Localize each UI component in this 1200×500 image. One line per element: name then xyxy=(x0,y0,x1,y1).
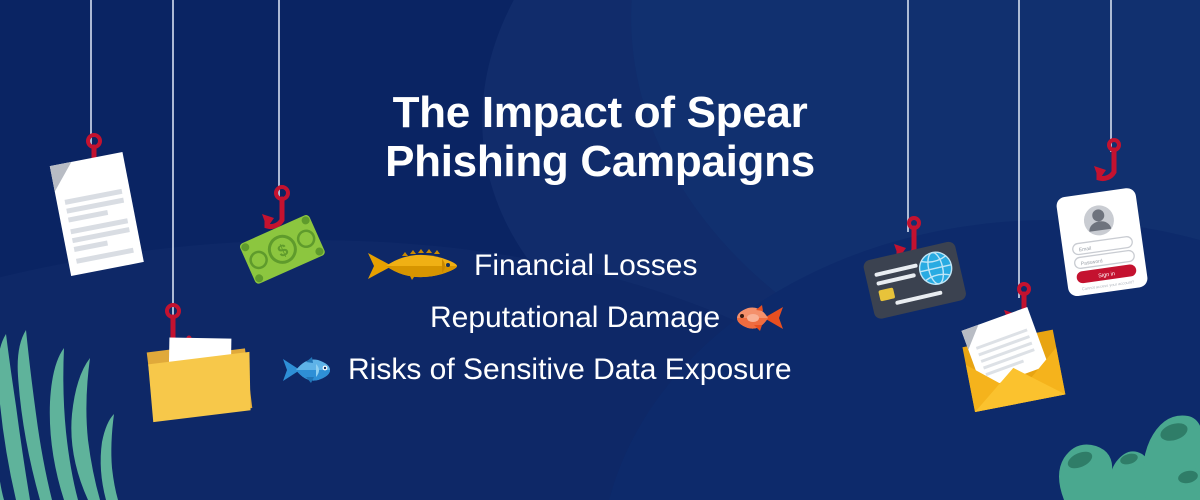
hooked-login-card: Email Password Sign in Cannot access you… xyxy=(1048,186,1158,298)
list-item: Risks of Sensitive Data Exposure xyxy=(280,344,860,396)
list-item-label: Financial Losses xyxy=(474,251,697,281)
seaweed-left xyxy=(0,310,132,500)
list-item: Financial Losses xyxy=(280,240,860,292)
title-line-1: The Impact of Spear xyxy=(340,88,860,137)
fishing-line-3 xyxy=(278,0,280,200)
spear-phishing-banner: $ xyxy=(0,0,1200,500)
coral-right xyxy=(1050,380,1200,500)
impact-list: Financial Losses Reputational Damage xyxy=(280,240,860,396)
orange-fish-icon xyxy=(734,302,786,334)
hooked-folder xyxy=(140,330,262,422)
gold-fish-icon xyxy=(362,247,460,285)
fishing-line-4 xyxy=(907,0,909,232)
page-title: The Impact of Spear Phishing Campaigns xyxy=(340,88,860,187)
list-item-label: Reputational Damage xyxy=(430,303,720,333)
hooked-document xyxy=(38,150,156,280)
list-item: Reputational Damage xyxy=(280,292,860,344)
blue-fish-icon xyxy=(280,354,334,386)
fishing-line-6 xyxy=(1110,0,1112,152)
fishing-line-1 xyxy=(90,0,92,148)
fishing-line-2 xyxy=(172,0,174,318)
fishing-line-5 xyxy=(1018,0,1020,298)
title-line-2: Phishing Campaigns xyxy=(340,137,860,186)
list-item-label: Risks of Sensitive Data Exposure xyxy=(348,355,792,385)
